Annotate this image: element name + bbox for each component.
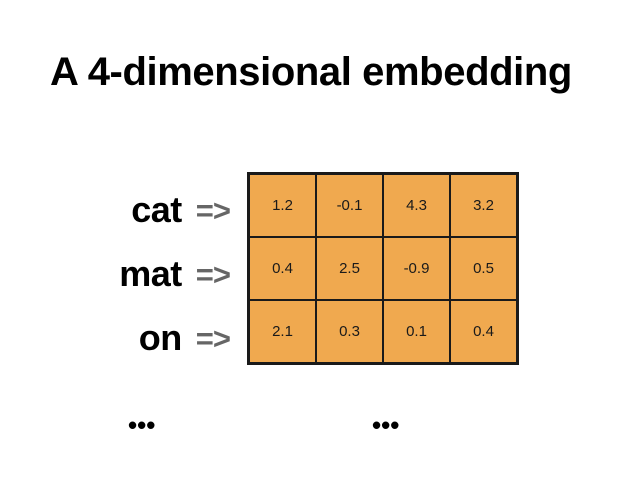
embedding-cell: 4.3 — [383, 174, 450, 238]
word-label-on: on — [139, 320, 182, 356]
arrow-icon-cat: => — [196, 195, 230, 226]
embedding-cell: 0.5 — [450, 237, 518, 300]
embedding-cell: 0.1 — [383, 300, 450, 364]
word-label-row-mat: mat => — [20, 242, 240, 306]
embedding-cell: 0.4 — [249, 237, 317, 300]
slide-canvas: A 4-dimensional embedding cat => mat => … — [0, 0, 638, 484]
word-label-row-on: on => — [20, 306, 240, 370]
ellipsis-vectors: ••• — [372, 412, 399, 438]
table-row: 0.4 2.5 -0.9 0.5 — [249, 237, 518, 300]
table-row: 2.1 0.3 0.1 0.4 — [249, 300, 518, 364]
embedding-cell: 2.5 — [316, 237, 383, 300]
word-label-row-cat: cat => — [20, 178, 240, 242]
embedding-cell: 2.1 — [249, 300, 317, 364]
embedding-cell: 3.2 — [450, 174, 518, 238]
embedding-cell: -0.9 — [383, 237, 450, 300]
ellipsis-words: ••• — [128, 412, 155, 438]
embedding-vector-table: 1.2 -0.1 4.3 3.2 0.4 2.5 -0.9 0.5 2.1 0.… — [247, 172, 519, 365]
embedding-cell: 0.4 — [450, 300, 518, 364]
table-row: 1.2 -0.1 4.3 3.2 — [249, 174, 518, 238]
embedding-cell: -0.1 — [316, 174, 383, 238]
arrow-icon-mat: => — [196, 259, 230, 290]
page-title: A 4-dimensional embedding — [50, 50, 610, 94]
word-label-column: cat => mat => on => — [20, 178, 240, 370]
word-label-mat: mat — [119, 256, 182, 292]
embedding-cell: 0.3 — [316, 300, 383, 364]
word-label-cat: cat — [131, 192, 182, 228]
arrow-icon-on: => — [196, 323, 230, 354]
embedding-cell: 1.2 — [249, 174, 317, 238]
